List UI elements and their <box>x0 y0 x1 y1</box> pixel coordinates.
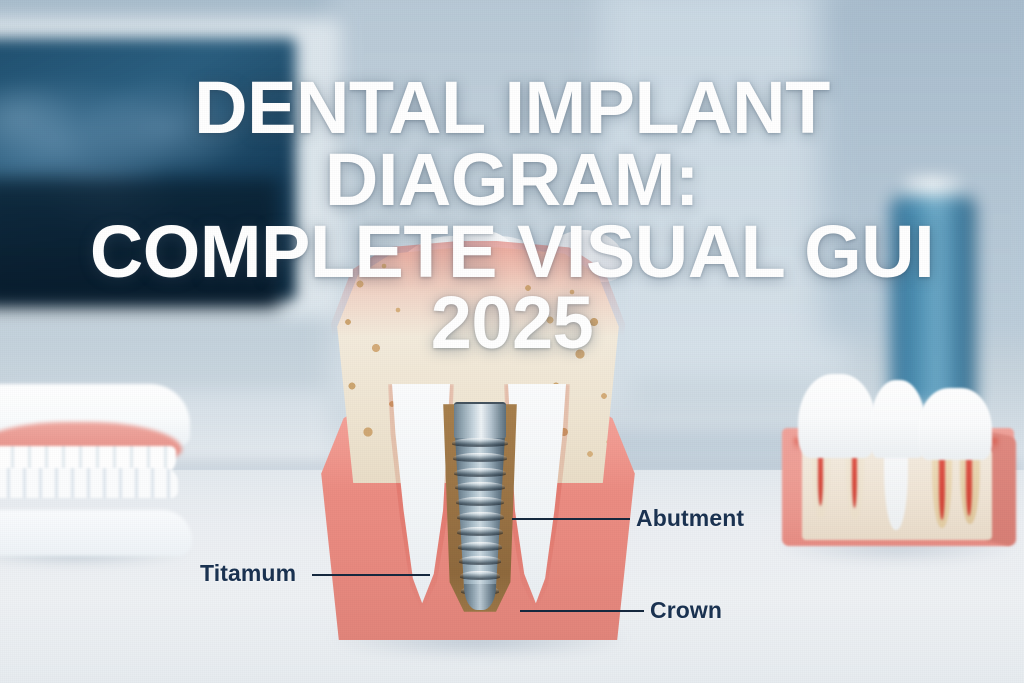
root-canal <box>966 452 972 516</box>
screw-thread <box>454 468 506 476</box>
screw-thread <box>456 497 505 505</box>
root-canal <box>939 454 945 520</box>
screw-thread <box>457 512 504 520</box>
implant-cross-section-model <box>318 236 638 656</box>
tooth-crown <box>918 388 992 460</box>
screw-apex <box>464 584 496 610</box>
callout-label-crown: Crown <box>650 597 722 624</box>
screw-thread <box>453 453 507 461</box>
callout-leader-line <box>512 518 630 520</box>
screw-thread <box>455 482 506 490</box>
callout-leader-line <box>520 610 644 612</box>
screw-thread <box>452 438 508 446</box>
titanium-implant-screw <box>451 402 509 610</box>
tooth-crown <box>798 374 876 458</box>
denture-base-lower <box>0 510 192 556</box>
callout-label-titanium: Titamum <box>200 560 296 587</box>
implant-abutment-collar <box>454 402 506 438</box>
hero-banner: DENTAL IMPLANT DIAGRAM: COMPLETE VISUAL … <box>0 0 1024 683</box>
denture-model <box>0 384 190 544</box>
screw-thread <box>460 571 500 579</box>
background-xray-shadow <box>0 178 280 308</box>
screw-threads <box>451 436 509 592</box>
tooth-anatomy-model <box>772 362 1024 587</box>
screw-thread <box>459 556 501 564</box>
screw-thread <box>458 542 501 550</box>
callout-label-abutment: Abutment <box>636 505 744 532</box>
screw-thread <box>457 527 502 535</box>
callout-leader-line <box>312 574 430 576</box>
